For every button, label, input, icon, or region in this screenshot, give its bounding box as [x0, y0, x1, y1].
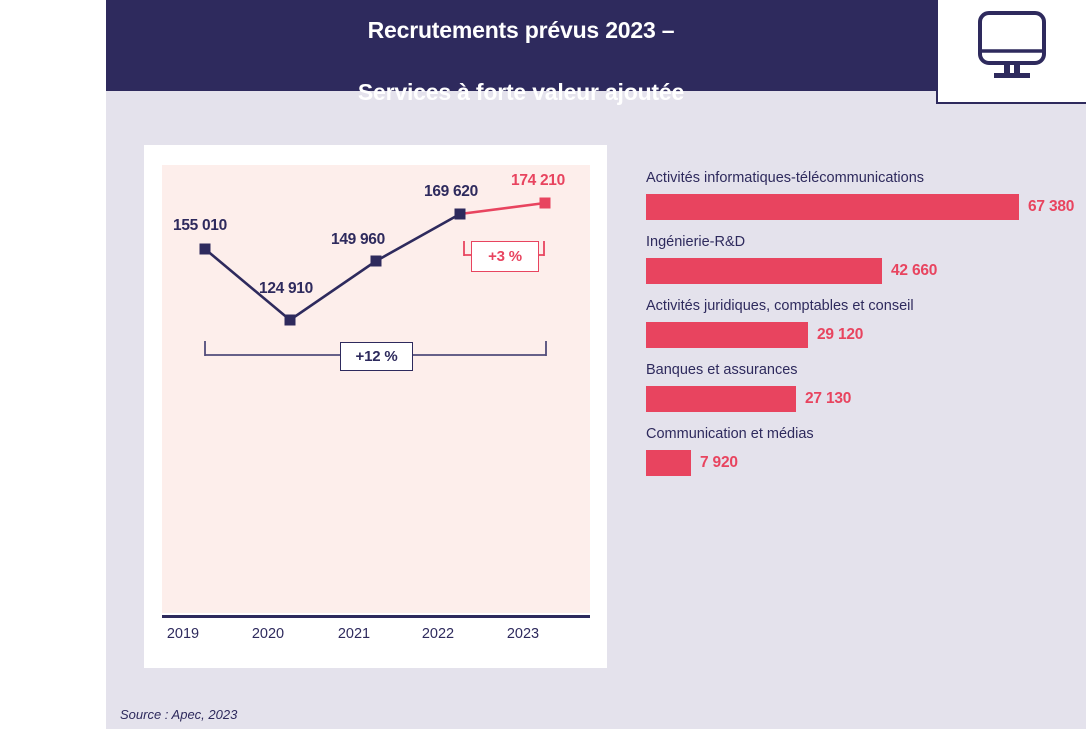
bar-row: 67 380 [646, 194, 1086, 220]
line-point-label-2022: 169 620 [424, 183, 478, 201]
bar-value: 27 130 [805, 390, 851, 408]
line-point-label-2021: 149 960 [331, 231, 385, 249]
bar-fill [646, 386, 796, 412]
line-point-label-2020: 124 910 [259, 280, 313, 298]
x-axis-label-2020: 2020 [226, 626, 310, 642]
x-axis-label-2022: 2022 [396, 626, 480, 642]
growth-total-badge: +12 % [340, 342, 413, 371]
bar-value: 42 660 [891, 262, 937, 280]
bar-value: 67 380 [1028, 198, 1074, 216]
bar-fill [646, 322, 808, 348]
bar-group-informatique: Activités informatiques-télécommunicatio… [646, 168, 1086, 220]
bar-label: Communication et médias [646, 424, 1086, 444]
page-title-line1: Recrutements prévus 2023 – [368, 17, 675, 43]
bar-fill [646, 450, 691, 476]
x-axis-label-2019: 2019 [141, 626, 225, 642]
x-axis-line [162, 615, 590, 618]
bar-label: Banques et assurances [646, 360, 1086, 380]
line-point-label-2019: 155 010 [173, 217, 227, 235]
page-title: Recrutements prévus 2023 – Services à fo… [358, 0, 684, 108]
bar-fill [646, 258, 882, 284]
source-note: Source : Apec, 2023 [120, 707, 237, 722]
bar-row: 29 120 [646, 322, 1086, 348]
bar-group-communication: Communication et médias 7 920 [646, 424, 1086, 476]
bar-row: 27 130 [646, 386, 1086, 412]
bar-row: 7 920 [646, 450, 1086, 476]
bar-label: Activités informatiques-télécommunicatio… [646, 168, 1086, 188]
monitor-icon [966, 9, 1058, 85]
x-axis-label-2023: 2023 [481, 626, 565, 642]
x-axis-labels: 2019 2020 2021 2022 2023 [162, 626, 590, 656]
line-point-label-2023: 174 210 [511, 172, 565, 190]
bar-group-juridique: Activités juridiques, comptables et cons… [646, 296, 1086, 348]
bar-group-ingenierie: Ingénierie-R&D 42 660 [646, 232, 1086, 284]
bar-group-banques: Banques et assurances 27 130 [646, 360, 1086, 412]
bar-row: 42 660 [646, 258, 1086, 284]
bar-label: Activités juridiques, comptables et cons… [646, 296, 1086, 316]
bar-chart-list: Activités informatiques-télécommunicatio… [646, 168, 1086, 488]
bar-value: 7 920 [700, 454, 738, 472]
bar-value: 29 120 [817, 326, 863, 344]
bar-label: Ingénierie-R&D [646, 232, 1086, 252]
page-title-line2: Services à forte valeur ajoutée [358, 79, 684, 105]
x-axis-label-2021: 2021 [312, 626, 396, 642]
header-banner: Recrutements prévus 2023 – Services à fo… [106, 0, 936, 91]
bar-fill [646, 194, 1019, 220]
monitor-icon-box [936, 0, 1086, 104]
growth-forecast-badge: +3 % [471, 241, 539, 272]
